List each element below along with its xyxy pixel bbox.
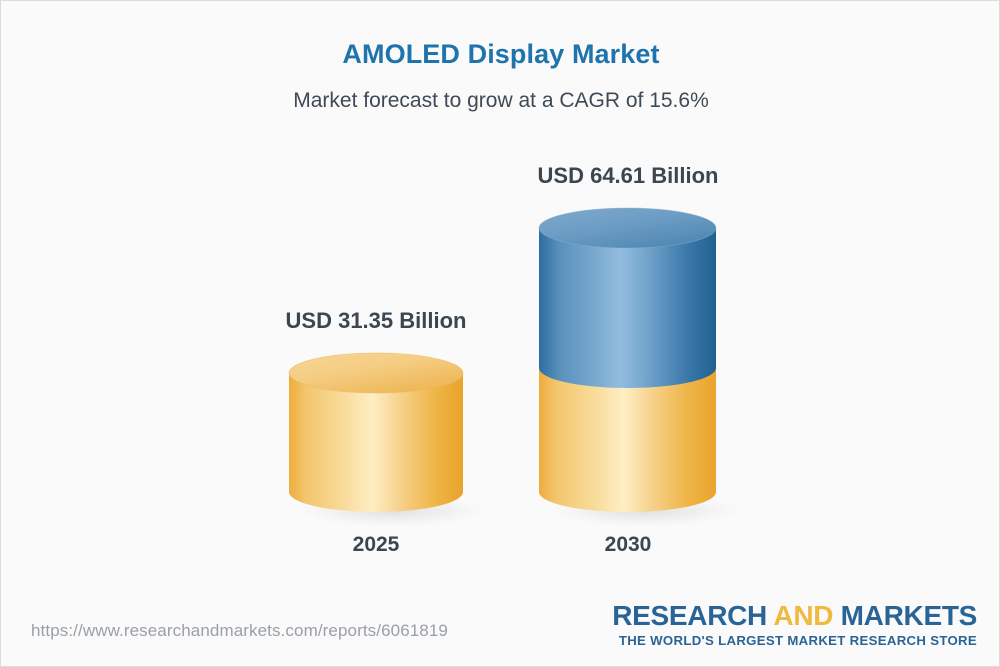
cylinder-2025[interactable] — [289, 151, 489, 531]
brand-word-research: RESEARCH — [612, 600, 773, 631]
chart-canvas: AMOLED Display Market Market forecast to… — [0, 0, 1000, 667]
category-label-2030: 2030 — [528, 533, 728, 557]
plot-area: USD 31.35 Billion — [1, 1, 1000, 601]
category-label-2025: 2025 — [276, 533, 476, 557]
brand-word-markets: MARKETS — [841, 600, 977, 631]
brand-tagline: THE WORLD'S LARGEST MARKET RESEARCH STOR… — [612, 633, 977, 648]
cylinder-2030[interactable] — [539, 151, 739, 531]
brand-name: RESEARCH AND MARKETS — [612, 601, 977, 630]
brand-logo[interactable]: RESEARCH AND MARKETS THE WORLD'S LARGEST… — [612, 601, 977, 648]
brand-word-and: AND — [773, 600, 840, 631]
source-url[interactable]: https://www.researchandmarkets.com/repor… — [31, 621, 448, 641]
